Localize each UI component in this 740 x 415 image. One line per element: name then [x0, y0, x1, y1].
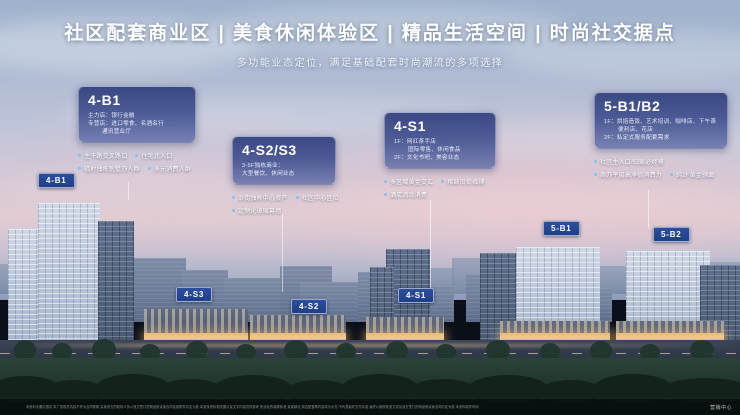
bullet-item: 沿街独栋中心资产 — [232, 193, 288, 202]
bullet-item: 纯1F黄金铺面 — [670, 170, 714, 179]
info-card-5-b1-b2[interactable]: 5-B1/B2 1F：烘焙造饭、艺术培训、咖啡店、下午茶 便利店、花店 2F：私… — [594, 92, 728, 183]
bullet-dot-icon — [148, 167, 151, 170]
bullet-item: 社区主入口/归家必经铺 — [594, 157, 664, 166]
bullet-item: 住宅北入口 — [135, 151, 172, 160]
bullet-dot-icon — [78, 154, 81, 157]
leader-line-4s3 — [282, 214, 283, 292]
card-title: 4-S1 — [385, 113, 495, 138]
card-line: 3-5F独栋商业： — [242, 162, 327, 170]
info-card-4-s2-s3[interactable]: 4-S2/S3 3-5F独栋商业： 大型餐饮、休闲业态 沿街独栋中心资产 社区中… — [232, 136, 336, 219]
bullet-item: 酒店流动消费 — [384, 190, 427, 199]
bullet-item: 辐射独栋别墅办人群 — [78, 164, 140, 173]
card-bullets: 沿街独栋中心资产 社区中心区位 定制化玻璃幕墙 — [232, 193, 336, 215]
bullet-label: 住宅北入口 — [141, 151, 172, 160]
card-box: 4-S2/S3 3-5F独栋商业： 大型餐饮、休闲业态 — [232, 136, 336, 185]
bullet-label: 纯1F黄金铺面 — [676, 170, 714, 179]
card-line: 便利店、花店 — [604, 126, 719, 134]
bullet-dot-icon — [384, 193, 387, 196]
card-bullets: 社区主入口/归家必经铺 商办平层高净值消费力 纯1F黄金铺面 — [594, 157, 728, 179]
bullet-item: 多区域黄金交汇 — [384, 177, 433, 186]
card-line: 2F：私定式服务配套需求 — [604, 134, 719, 142]
building-tag-4-s2[interactable]: 4-S2 — [291, 299, 327, 314]
building-tag-4-s3[interactable]: 4-S3 — [176, 287, 212, 302]
bullet-item: 社区中心区位 — [296, 193, 339, 202]
bullet-label: 商办平层高净值消费力 — [600, 170, 662, 179]
bullet-dot-icon — [232, 209, 235, 212]
card-line: 通讯营业厅 — [88, 128, 187, 136]
bullet-item: 商办平层高净值消费力 — [594, 170, 662, 179]
bullet-label: 稀缺沿街临铺 — [447, 177, 484, 186]
bullet-label: 社区主入口/归家必经铺 — [600, 157, 664, 166]
header-block: 社区配套商业区 | 美食休闲体验区 | 精品生活空间 | 时尚社交据点 多功能业… — [0, 18, 740, 69]
bullet-label: 酒店流动消费 — [390, 190, 427, 199]
leader-line-4s1 — [430, 200, 431, 292]
leader-line-5b2 — [648, 190, 649, 228]
bullet-item: 主干路交叉路口 — [78, 151, 127, 160]
legal-disclaimer: 本资料为要约邀请 本广告相关内容不作为合同条款 买卖双方的权利义务以双方签订的商… — [0, 405, 710, 410]
bullet-dot-icon — [384, 180, 387, 183]
bullet-label: 多区域黄金交汇 — [390, 177, 433, 186]
bullet-label: 沿街独栋中心资产 — [238, 193, 288, 202]
bullet-label: 定制化玻璃幕墙 — [238, 206, 281, 215]
bullet-label: 主干路交叉路口 — [84, 151, 127, 160]
bullet-dot-icon — [296, 196, 299, 199]
card-lines: 1F：烘焙造饭、艺术培训、咖啡店、下午茶 便利店、花店 2F：私定式服务配套需求 — [595, 118, 727, 148]
info-card-4-s1[interactable]: 4-S1 1F：网红茶手店 国际零售、休闲食品 2F：文化书吧、美容业态 多区域… — [384, 112, 496, 203]
leader-line-4b1 — [128, 182, 129, 200]
building-tag-5-b2[interactable]: 5-B2 — [653, 227, 690, 242]
foreground-treeline — [0, 370, 740, 402]
footer-bar: 本资料为要约邀请 本广告相关内容不作为合同条款 买卖双方的权利义务以双方签订的商… — [0, 399, 740, 415]
bullet-dot-icon — [232, 196, 235, 199]
bullet-dot-icon — [78, 167, 81, 170]
building-tag-4-s1[interactable]: 4-S1 — [398, 288, 434, 303]
card-title: 4-B1 — [79, 87, 195, 112]
scene-container: 社区配套商业区 | 美食休闲体验区 | 精品生活空间 | 时尚社交据点 多功能业… — [0, 0, 740, 415]
bullet-dot-icon — [594, 173, 597, 176]
card-lines: 1F：网红茶手店 国际零售、休闲食品 2F：文化书吧、美容业态 — [385, 138, 495, 168]
bullet-item: 稀缺沿街临铺 — [441, 177, 484, 186]
card-box: 4-B1 主力店：银行金融 专营店：进口零食、名酒名行 通讯营业厅 — [78, 86, 196, 143]
bullet-item: 多元消费人群 — [148, 164, 191, 173]
bullet-dot-icon — [594, 160, 597, 163]
card-box: 5-B1/B2 1F：烘焙造饭、艺术培训、咖啡店、下午茶 便利店、花店 2F：私… — [594, 92, 728, 149]
card-title: 4-S2/S3 — [233, 137, 335, 162]
building-tag-5-b1[interactable]: 5-B1 — [543, 221, 580, 236]
bullet-dot-icon — [135, 154, 138, 157]
card-lines: 主力店：银行金融 专营店：进口零食、名酒名行 通讯营业厅 — [79, 112, 195, 142]
info-card-4-b1[interactable]: 4-B1 主力店：银行金融 专营店：进口零食、名酒名行 通讯营业厅 主干路交叉路… — [78, 86, 196, 177]
card-line: 大型餐饮、休闲业态 — [242, 170, 327, 178]
page-title: 社区配套商业区 | 美食休闲体验区 | 精品生活空间 | 时尚社交据点 — [0, 18, 740, 45]
card-box: 4-S1 1F：网红茶手店 国际零售、休闲食品 2F：文化书吧、美容业态 — [384, 112, 496, 169]
bullet-item: 定制化玻璃幕墙 — [232, 206, 281, 215]
footer-brand: 营销中心 — [710, 404, 740, 411]
card-line: 专营店：进口零食、名酒名行 — [88, 120, 187, 128]
card-line: 1F：烘焙造饭、艺术培训、咖啡店、下午茶 — [604, 118, 719, 126]
bullet-dot-icon — [441, 180, 444, 183]
card-bullets: 多区域黄金交汇 稀缺沿街临铺 酒店流动消费 — [384, 177, 496, 199]
card-lines: 3-5F独栋商业： 大型餐饮、休闲业态 — [233, 162, 335, 184]
building-tag-4-b1[interactable]: 4-B1 — [38, 173, 75, 188]
card-bullets: 主干路交叉路口 住宅北入口 辐射独栋别墅办人群 多元消费人群 — [78, 151, 196, 173]
card-line: 1F：网红茶手店 — [394, 138, 487, 146]
bullet-label: 社区中心区位 — [302, 193, 339, 202]
card-line: 国际零售、休闲食品 — [394, 146, 487, 154]
bullet-label: 辐射独栋别墅办人群 — [84, 164, 140, 173]
card-title: 5-B1/B2 — [595, 93, 727, 118]
card-line: 2F：文化书吧、美容业态 — [394, 154, 487, 162]
page-subtitle: 多功能业态定位，满足基础配套时尚潮流的多项选择 — [0, 54, 740, 69]
bullet-dot-icon — [670, 173, 673, 176]
bullet-label: 多元消费人群 — [154, 164, 191, 173]
card-line: 主力店：银行金融 — [88, 112, 187, 120]
street-treeline — [0, 330, 740, 360]
